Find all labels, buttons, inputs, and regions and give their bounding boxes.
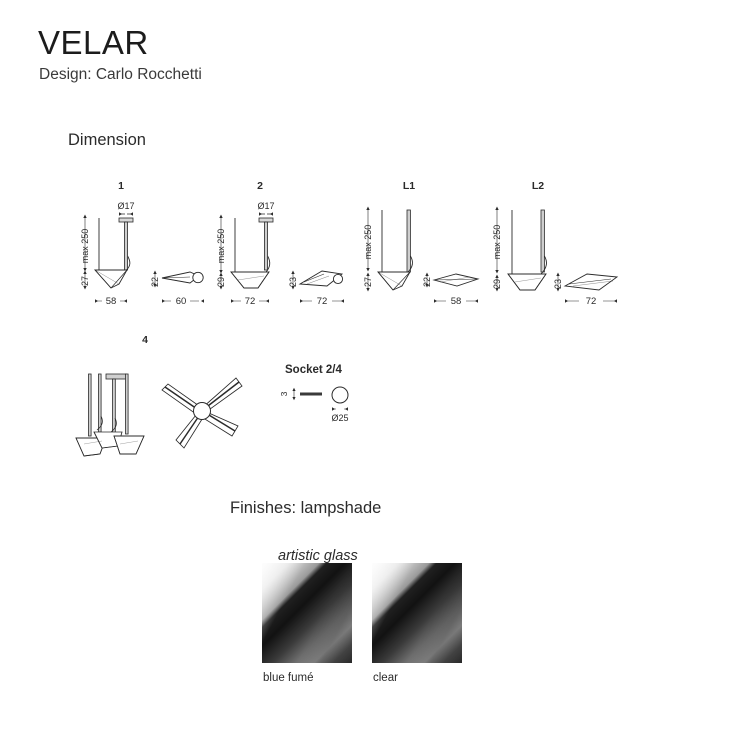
drawing-variant-2: Ø17 max 250 29 72 23 72: [214, 198, 359, 310]
socket-heading: Socket 2/4: [285, 364, 342, 376]
variant-label-l2: L2: [518, 180, 558, 192]
drawing-variant-l1: max 250 27 22 58: [360, 198, 500, 310]
variant-label-4: 4: [125, 334, 165, 346]
artistic-glass-label: artistic glass: [278, 548, 358, 564]
dim-side-width-2: 72: [317, 296, 328, 307]
dim-side-width-l2: 72: [586, 296, 597, 307]
swatch-clear-sheen: [372, 563, 462, 663]
swatch-label-blue-fume: blue fumé: [263, 672, 314, 684]
swatch-blue-fume[interactable]: [262, 563, 352, 663]
dim-width-1: 58: [106, 296, 117, 307]
designer-credit: Design: Carlo Rocchetti: [39, 66, 202, 84]
dimension-section-heading: Dimension: [68, 131, 146, 150]
variant-label-1: 1: [101, 180, 141, 192]
drawing-variant-1: Ø17 max 250 27 58 22: [78, 198, 213, 310]
swatch-label-clear: clear: [373, 672, 398, 684]
drawing-variant-4-plan: [152, 364, 252, 459]
page-title: VELAR: [38, 24, 149, 62]
dim-socket-diameter: Ø25: [331, 413, 348, 423]
finishes-section-heading: Finishes: lampshade: [230, 499, 381, 518]
dim-diameter-1: Ø17: [117, 201, 134, 211]
variant-label-2: 2: [240, 180, 280, 192]
swatch-clear[interactable]: [372, 563, 462, 663]
dim-side-width-1: 60: [176, 296, 187, 307]
dim-diameter-2: Ø17: [257, 201, 274, 211]
dim-side-width-l1: 58: [451, 296, 462, 307]
swatch-blue-fume-sheen: [262, 563, 352, 663]
drawing-variant-l2: max 250 29 23 72: [489, 198, 639, 310]
dim-width-2: 72: [245, 296, 256, 307]
drawing-socket: 3 Ø25: [278, 382, 368, 424]
variant-label-l1: L1: [389, 180, 429, 192]
dim-socket-thickness: 3: [279, 391, 289, 396]
